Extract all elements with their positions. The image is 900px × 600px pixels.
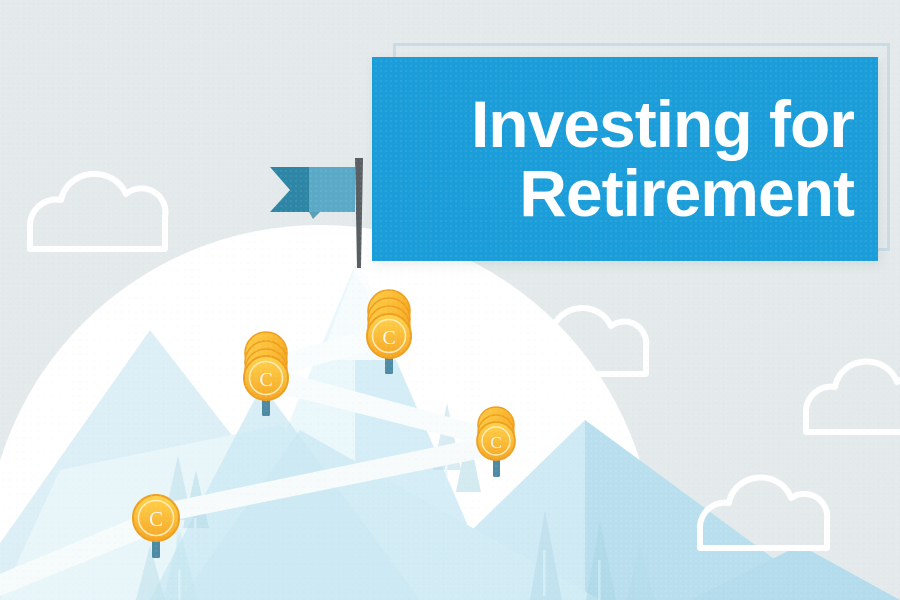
flag-cloth-light xyxy=(309,167,355,212)
illustration-scene: C C C xyxy=(0,0,900,600)
coin-symbol: C xyxy=(259,369,272,391)
banner-title-line-1: Investing for xyxy=(400,92,854,157)
coin-symbol: C xyxy=(382,327,395,349)
title-banner: Investing for Retirement xyxy=(372,57,878,261)
coin-symbol: C xyxy=(490,433,501,452)
banner-title-line-2: Retirement xyxy=(400,161,854,226)
coin-symbol: C xyxy=(149,507,163,531)
